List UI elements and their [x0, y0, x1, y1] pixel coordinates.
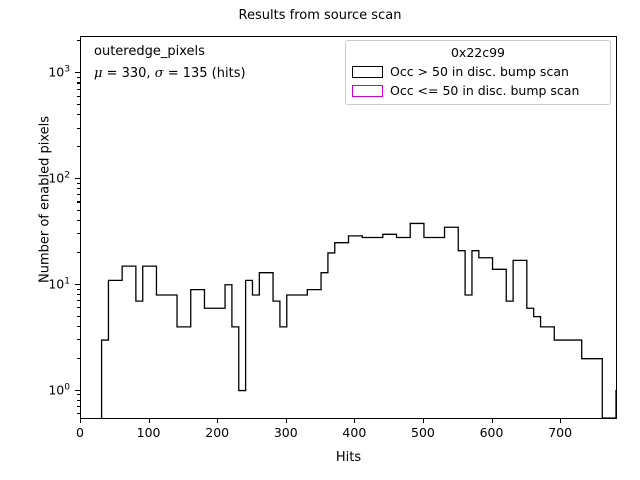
y-minor-tick [77, 316, 80, 317]
legend-label-occ-le-50: Occ <= 50 in disc. bump scan [390, 83, 579, 98]
annotation-stats: μ = 330, σ = 135 (hits) [94, 66, 246, 81]
y-minor-tick [77, 289, 80, 290]
y-minor-tick [77, 358, 80, 359]
y-minor-tick [77, 77, 80, 78]
y-tick [75, 390, 80, 391]
y-minor-tick [77, 104, 80, 105]
x-tick-label: 400 [342, 425, 366, 440]
x-tick [560, 419, 561, 423]
x-tick-label: 600 [480, 425, 504, 440]
y-minor-tick [77, 82, 80, 83]
y-minor-tick [77, 146, 80, 147]
legend-swatch-occ-gt-50 [352, 66, 383, 78]
x-tick [354, 419, 355, 423]
x-tick [217, 419, 218, 423]
y-minor-tick [77, 233, 80, 234]
y-minor-tick [77, 201, 80, 202]
y-minor-tick [77, 394, 80, 395]
histogram-outline [102, 223, 616, 418]
x-tick [80, 419, 81, 423]
y-minor-tick [77, 252, 80, 253]
y-axis-label-host: Number of enabled pixels [10, 0, 30, 480]
y-minor-tick [77, 400, 80, 401]
x-tick-label: 300 [274, 425, 298, 440]
x-tick [423, 419, 424, 423]
x-tick [149, 419, 150, 423]
y-tick-label: 101 [28, 276, 70, 291]
y-minor-tick [77, 40, 80, 41]
y-minor-tick [77, 128, 80, 129]
y-minor-tick [77, 413, 80, 414]
y-tick [75, 284, 80, 285]
y-tick [75, 178, 80, 179]
y-minor-tick [77, 300, 80, 301]
legend-title: 0x22c99 [352, 44, 604, 62]
x-tick-label: 0 [76, 425, 84, 440]
legend-box: 0x22c99 Occ > 50 in disc. bump scan Occ … [345, 40, 611, 105]
chart-figure: Results from source scan Number of enabl… [0, 0, 640, 480]
y-minor-tick [77, 294, 80, 295]
y-minor-tick [77, 339, 80, 340]
legend-entry-1[interactable]: Occ <= 50 in disc. bump scan [352, 81, 604, 100]
chart-title: Results from source scan [0, 8, 640, 23]
y-minor-tick [77, 188, 80, 189]
y-minor-tick [77, 183, 80, 184]
y-minor-tick [77, 96, 80, 97]
legend-swatch-occ-le-50 [352, 85, 383, 97]
y-minor-tick [77, 326, 80, 327]
y-minor-tick [77, 210, 80, 211]
y-minor-tick [77, 114, 80, 115]
x-tick-label: 700 [548, 425, 572, 440]
legend-label-occ-gt-50: Occ > 50 in disc. bump scan [390, 64, 569, 79]
y-minor-tick [77, 220, 80, 221]
x-axis-label: Hits [80, 450, 617, 465]
y-minor-tick [77, 194, 80, 195]
y-tick-label: 102 [28, 170, 70, 185]
y-tick [75, 72, 80, 73]
y-tick-label: 100 [28, 382, 70, 397]
x-tick-label: 100 [137, 425, 161, 440]
y-minor-tick [77, 307, 80, 308]
y-minor-tick [77, 406, 80, 407]
x-tick-label: 200 [205, 425, 229, 440]
y-tick-label: 103 [28, 65, 70, 80]
x-tick-label: 500 [411, 425, 435, 440]
annotation-dataset-name: outeredge_pixels [94, 44, 205, 59]
x-tick [286, 419, 287, 423]
y-minor-tick [77, 89, 80, 90]
legend-entry-0[interactable]: Occ > 50 in disc. bump scan [352, 62, 604, 81]
x-tick [492, 419, 493, 423]
